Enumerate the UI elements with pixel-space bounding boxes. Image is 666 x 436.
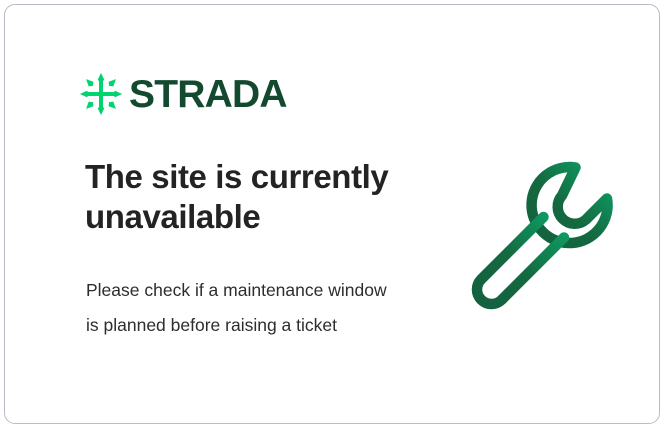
brand-wordmark: STRADA (129, 75, 287, 114)
brand-lockup: STRADA (79, 69, 287, 119)
error-page: STRADA The site is currently unavailable… (0, 0, 666, 436)
strada-asterisk-icon (79, 72, 123, 116)
page-description: Please check if a maintenance window is … (86, 273, 396, 343)
page-title: The site is currently unavailable (85, 157, 435, 238)
status-card: STRADA The site is currently unavailable… (4, 4, 660, 424)
wrench-illustration (457, 155, 617, 315)
